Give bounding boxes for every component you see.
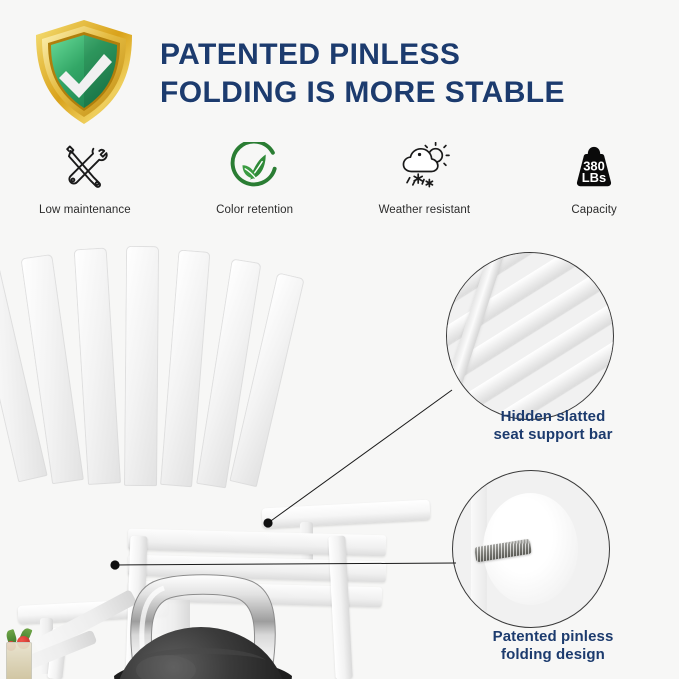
feature-color-retention: Color retention <box>170 140 340 228</box>
feature-label: Capacity <box>571 204 617 216</box>
caption-line-2: folding design <box>438 646 668 664</box>
callout-caption-slatted-bar: Hidden slatted seat support bar <box>438 408 668 445</box>
weight-unit-text: LBs <box>582 170 606 185</box>
feature-row: Low maintenance Color retention <box>0 140 679 228</box>
page-headline: PATENTED PINLESS FOLDING IS MORE STABLE <box>160 36 670 113</box>
weight-capacity-icon: 380 LBs <box>569 140 619 194</box>
tools-wrench-screwdriver-icon <box>60 140 110 194</box>
fruit-drink-glass <box>2 628 36 679</box>
caption-line-1: Hidden slatted <box>438 408 668 426</box>
feature-label: Color retention <box>216 204 293 216</box>
callout-caption-pinless-folding: Patented pinless folding design <box>438 628 668 665</box>
shield-check-icon <box>28 16 140 128</box>
caption-line-2: seat support bar <box>438 426 668 444</box>
product-infographic: PATENTED PINLESS FOLDING IS MORE STABLE … <box>0 0 679 679</box>
caption-line-1: Patented pinless <box>438 628 668 646</box>
headline-line-2: FOLDING IS MORE STABLE <box>160 74 670 112</box>
header-section: PATENTED PINLESS FOLDING IS MORE STABLE <box>0 0 679 135</box>
feature-low-maintenance: Low maintenance <box>0 140 170 228</box>
callout-circle-slatted-bar <box>446 252 614 420</box>
product-photo: 380LBs <box>0 236 440 679</box>
headline-line-1: PATENTED PINLESS <box>160 36 670 74</box>
feature-label: Low maintenance <box>39 204 131 216</box>
feature-label: Weather resistant <box>379 204 471 216</box>
kettlebell-380lbs: 380LBs <box>96 548 306 679</box>
cloud-sun-snow-icon <box>397 140 451 194</box>
leaf-circle-icon <box>230 140 280 194</box>
feature-weather-resistant: Weather resistant <box>340 140 510 228</box>
feature-capacity: 380 LBs Capacity <box>509 140 679 228</box>
callout-circle-pinless-folding <box>452 470 610 628</box>
